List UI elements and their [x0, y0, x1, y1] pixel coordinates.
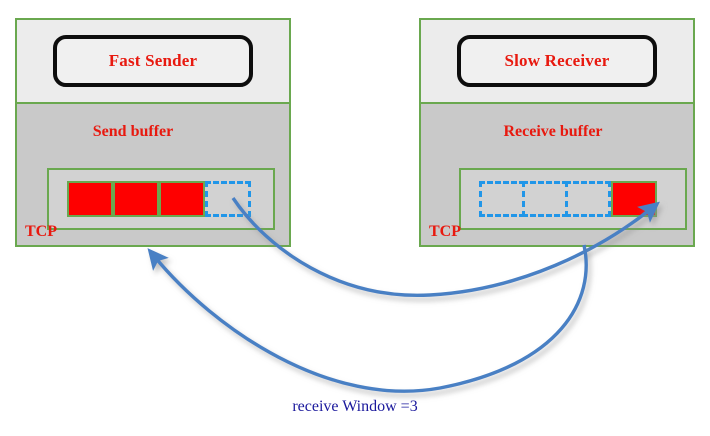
send-buffer-cell-4[interactable] [205, 181, 251, 217]
slow-receiver-app-box[interactable]: Slow Receiver [457, 35, 657, 87]
sender-tcp-label: TCP [25, 223, 57, 241]
receive-buffer-cell-4[interactable] [611, 181, 657, 217]
window-advertisement-arrow-receiver-to-sender [154, 245, 586, 391]
receive-buffer-cell-1[interactable] [479, 181, 525, 217]
send-buffer-cell-1[interactable] [67, 181, 113, 217]
sender-application-layer: Fast Sender [17, 20, 289, 104]
receiver-tcp-label: TCP [429, 223, 461, 241]
send-buffer-cell-3[interactable] [159, 181, 205, 217]
receive-buffer-title: Receive buffer [421, 123, 685, 141]
slow-receiver-label: Slow Receiver [504, 51, 609, 71]
receiver-application-layer: Slow Receiver [421, 20, 693, 104]
receive-buffer-cell-3[interactable] [565, 181, 611, 217]
send-buffer-title: Send buffer [17, 123, 249, 141]
receive-window-caption: receive Window =3 [0, 398, 710, 416]
diagram-canvas: Fast Sender Send buffer TCP Slow Receive… [0, 0, 710, 436]
fast-sender-label: Fast Sender [109, 51, 198, 71]
send-buffer-cells [67, 181, 251, 217]
receive-buffer-cell-2[interactable] [522, 181, 568, 217]
sender-host-panel: Fast Sender Send buffer TCP [15, 18, 291, 247]
fast-sender-app-box[interactable]: Fast Sender [53, 35, 253, 87]
send-buffer-container [47, 168, 275, 230]
receive-buffer-cells [479, 181, 657, 217]
receiver-host-panel: Slow Receiver Receive buffer TCP [419, 18, 695, 247]
receive-buffer-container [459, 168, 687, 230]
send-buffer-cell-2[interactable] [113, 181, 159, 217]
